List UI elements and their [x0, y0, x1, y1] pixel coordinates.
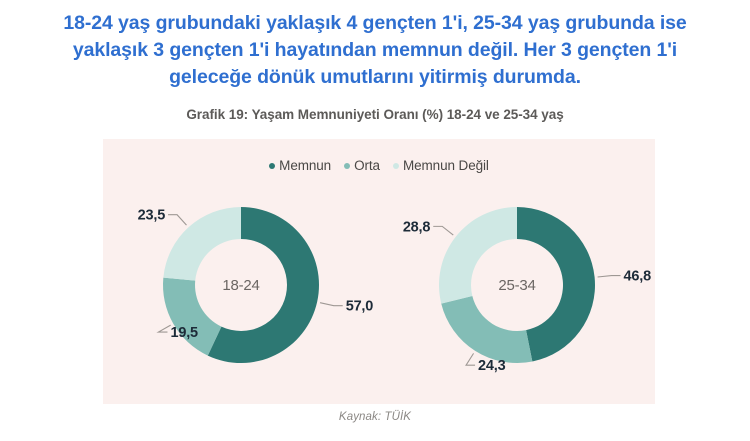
legend-label: Memnun Değil — [403, 158, 489, 173]
legend-label: Orta — [354, 158, 380, 173]
donut-value-label: 23,5 — [138, 208, 166, 224]
chart-title: Grafik 19: Yaşam Memnuniyeti Oranı (%) 1… — [55, 107, 695, 122]
donut-leader-line — [320, 303, 343, 306]
donut-leader-line — [158, 325, 170, 332]
page-headline: 18-24 yaş grubundaki yaklaşık 4 gençten … — [55, 10, 695, 91]
donut-leader-line — [433, 226, 453, 235]
donut-value-label: 19,5 — [170, 325, 198, 341]
legend-dot-icon — [269, 163, 275, 169]
donut-chart-group: 18-2457,019,523,5 25-3446,824,328,8 — [103, 187, 655, 397]
donut-slice-orta[interactable] — [163, 278, 221, 356]
donut-value-label: 46,8 — [624, 269, 652, 285]
chart-panel: Memnun Orta Memnun Değil 18-2457,019,523… — [103, 139, 655, 404]
donut-value-label: 28,8 — [403, 219, 431, 235]
donut-value-label: 57,0 — [346, 299, 374, 315]
donut-chart-18-24: 18-2457,019,523,5 — [105, 187, 377, 397]
source-attribution: Kaynak: TÜİK — [55, 411, 695, 423]
donut-slice-memnun-değil[interactable] — [163, 207, 241, 281]
legend-dot-icon — [344, 163, 350, 169]
donut-leader-line — [466, 353, 475, 365]
donut-leader-line — [168, 215, 186, 225]
legend-item-memnun[interactable]: Memnun — [269, 158, 331, 173]
legend-label: Memnun — [279, 158, 331, 173]
donut-center-label: 18-24 — [222, 277, 259, 294]
donut-center-label: 25-34 — [498, 277, 535, 294]
legend-item-orta[interactable]: Orta — [344, 158, 380, 173]
donut-slice-orta[interactable] — [441, 296, 532, 363]
chart-legend: Memnun Orta Memnun Değil — [103, 158, 655, 173]
legend-dot-icon — [393, 163, 399, 169]
infographic-page: 18-24 yaş grubundaki yaklaşık 4 gençten … — [0, 0, 750, 441]
donut-leader-line — [598, 276, 621, 277]
donut-value-label: 24,3 — [478, 358, 506, 374]
donut-chart-25-34: 25-3446,824,328,8 — [381, 187, 653, 397]
legend-item-memnun-degil[interactable]: Memnun Değil — [393, 158, 489, 173]
